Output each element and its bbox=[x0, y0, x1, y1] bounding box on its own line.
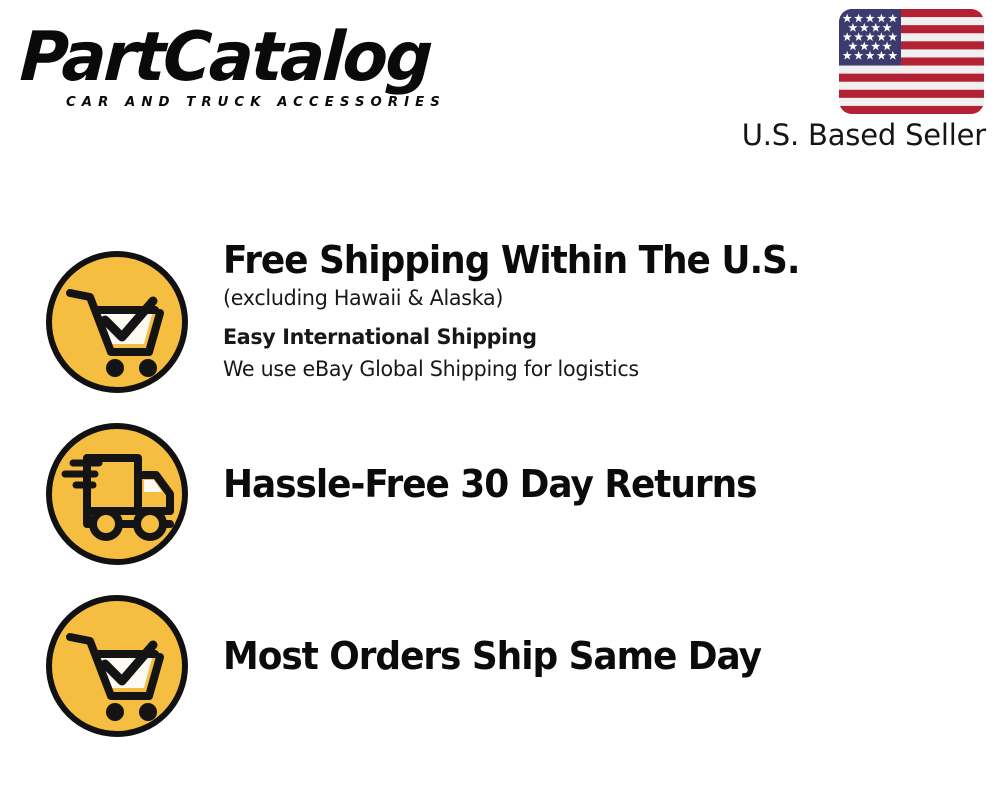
brand-logo[interactable]: PartCatalog CAR AND TRUCK ACCESSORIES bbox=[22, 24, 492, 114]
feature-text-block: Free Shipping Within The U.S. (excluding… bbox=[223, 238, 983, 386]
shopping-cart-check-icon bbox=[43, 592, 191, 740]
page-header: PartCatalog CAR AND TRUCK ACCESSORIES bbox=[0, 0, 1000, 170]
us-based-seller-label: U.S. Based Seller bbox=[742, 118, 986, 152]
shopping-cart-check-icon bbox=[43, 248, 191, 396]
brand-wordmark: PartCatalog bbox=[19, 24, 478, 92]
feature-title: Hassle-Free 30 Day Returns bbox=[223, 462, 941, 507]
spacer bbox=[223, 315, 983, 322]
feature-text-block: Hassle-Free 30 Day Returns bbox=[223, 462, 983, 507]
feature-text-block: Most Orders Ship Same Day bbox=[223, 634, 983, 679]
delivery-truck-icon bbox=[43, 420, 191, 568]
feature-subtitle: We use eBay Global Shipping for logistic… bbox=[223, 354, 953, 386]
us-flag-icon bbox=[839, 9, 984, 114]
feature-title: Most Orders Ship Same Day bbox=[223, 634, 941, 679]
feature-title: Free Shipping Within The U.S. bbox=[223, 238, 941, 283]
feature-subtitle: Easy International Shipping bbox=[223, 322, 953, 354]
brand-tagline: CAR AND TRUCK ACCESSORIES bbox=[66, 94, 446, 110]
feature-subtitle: (excluding Hawaii & Alaska) bbox=[223, 283, 953, 315]
